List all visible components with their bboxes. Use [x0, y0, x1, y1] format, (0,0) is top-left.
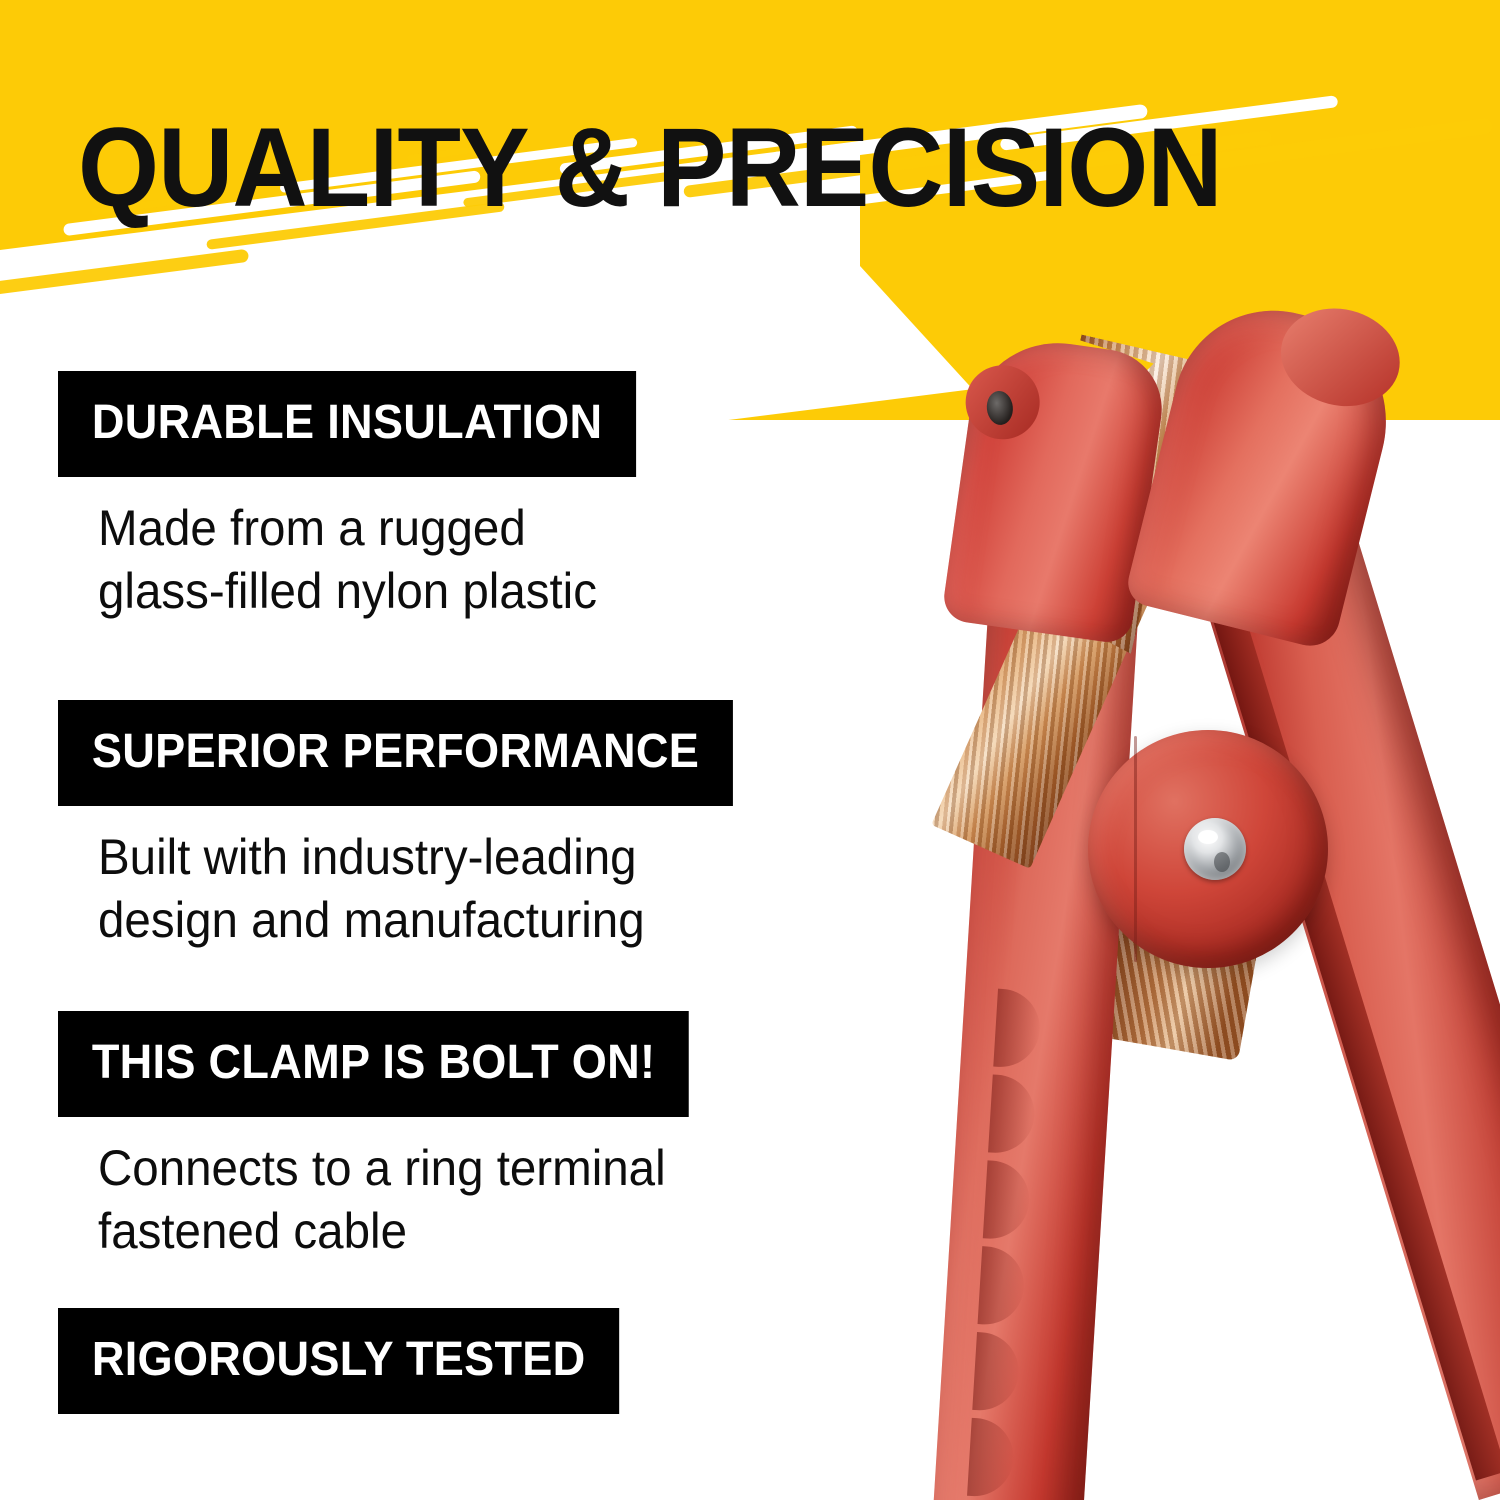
red-jaw-cover-right [1123, 289, 1409, 652]
feature-tag-3: THIS CLAMP IS BOLT ON! [58, 1011, 689, 1117]
feature-block-4: RIGOROUSLY TESTED [58, 1308, 655, 1414]
page-title: QUALITY & PRECISION [78, 112, 1222, 224]
feature-body-line: fastened cable [98, 1200, 698, 1263]
feature-block-1: DURABLE INSULATION Made from a rugged gl… [58, 371, 673, 623]
feature-body-2: Built with industry-leading design and m… [98, 826, 742, 952]
feature-tag-1: DURABLE INSULATION [58, 371, 636, 477]
feature-body-3: Connects to a ring terminal fastened cab… [98, 1137, 698, 1263]
feature-body-line: Made from a rugged [98, 497, 644, 560]
silver-rivet-icon [1184, 818, 1246, 880]
infographic-canvas: QUALITY & PRECISION DURABLE INSULATION M… [0, 0, 1500, 1500]
feature-body-line: Connects to a ring terminal [98, 1137, 698, 1200]
feature-body-line: Built with industry-leading [98, 826, 742, 889]
feature-tag-4: RIGOROUSLY TESTED [58, 1308, 619, 1414]
pivot-seam [1134, 736, 1137, 962]
pivot-disc [1088, 730, 1328, 968]
feature-block-3: THIS CLAMP IS BOLT ON! Connects to a rin… [58, 1011, 729, 1263]
feature-body-line: design and manufacturing [98, 889, 742, 952]
feature-body-1: Made from a rugged glass-filled nylon pl… [98, 497, 644, 623]
clamp-jaw-assembly [880, 300, 1500, 780]
product-photo-battery-clamp [880, 300, 1500, 1500]
jaw-lobe [1271, 296, 1411, 418]
feature-tag-2: SUPERIOR PERFORMANCE [58, 700, 733, 806]
feature-block-2: SUPERIOR PERFORMANCE Built with industry… [58, 700, 776, 952]
feature-body-line: glass-filled nylon plastic [98, 560, 644, 623]
